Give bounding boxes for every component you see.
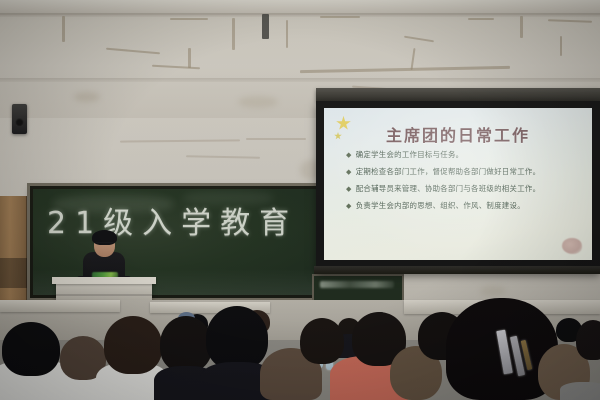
bullet-marker-icon: ◆ — [346, 201, 352, 211]
bullet-marker-icon: ◆ — [346, 184, 352, 194]
secondary-chalk-marks — [320, 281, 394, 288]
wall-stain — [74, 92, 100, 102]
wall-seam-mid — [0, 78, 600, 82]
presentation-slide: 主席团的日常工作 ◆ 确定学生会的工作目标与任务。 ◆ 定期检查各部门工作，督促… — [324, 108, 592, 260]
audience-head — [576, 320, 600, 360]
chalk-smudge — [183, 191, 273, 205]
speaker-grill-icon — [15, 118, 24, 127]
audience-head — [104, 316, 162, 374]
door-shadow — [0, 258, 28, 288]
wall-crack — [232, 18, 235, 50]
bullet-text: 定期检查各部门工作，督促帮助各部门做好日常工作。 — [356, 167, 541, 177]
bullet-text: 确定学生会的工作目标与任务。 — [356, 150, 464, 160]
slide-title: 主席团的日常工作 — [324, 122, 592, 146]
wall-crack — [286, 20, 288, 48]
bullet-marker-icon: ◆ — [346, 167, 352, 177]
list-item: ◆ 确定学生会的工作目标与任务。 — [346, 150, 582, 160]
wall-crack — [170, 18, 208, 20]
blackboard-chalk-text: 21级入学教育 — [47, 209, 327, 239]
wall-crack — [320, 16, 360, 18]
wall-stain — [238, 96, 278, 108]
bullet-text: 负责学生会内部的思想、组织、作风、制度建设。 — [356, 201, 525, 211]
audience-shoulders — [560, 382, 600, 400]
wall-crack — [188, 48, 191, 68]
projector-screen-bottom-bar — [314, 266, 600, 274]
list-item: ◆ 定期检查各部门工作，督促帮助各部门做好日常工作。 — [346, 167, 582, 177]
glasses-icon — [96, 242, 113, 247]
desk-row — [0, 300, 120, 312]
classroom-door[interactable] — [0, 196, 28, 300]
wall-crack — [246, 138, 306, 140]
list-item: ◆ 配合辅导员来管理、协助各部门与各班级的相关工作。 — [346, 184, 582, 194]
bullet-text: 配合辅导员来管理、协助各部门与各班级的相关工作。 — [356, 184, 541, 194]
projector-screen-case — [316, 88, 600, 101]
audience-head — [300, 318, 344, 364]
cartoon-figure-icon — [562, 238, 582, 254]
wall-seam-upper — [0, 14, 600, 17]
audience-head — [2, 322, 60, 376]
audience-head — [160, 316, 212, 372]
list-item: ◆ 负责学生会内部的思想、组织、作风、制度建设。 — [346, 201, 582, 211]
slide-bullet-list: ◆ 确定学生会的工作目标与任务。 ◆ 定期检查各部门工作，督促帮助各部门做好日常… — [346, 150, 582, 219]
wall-stain — [480, 286, 506, 296]
podium-top — [52, 277, 156, 284]
wall-pipe-mark — [262, 14, 269, 39]
wall-crack — [62, 16, 65, 42]
bullet-marker-icon: ◆ — [346, 150, 352, 160]
ceiling-strip — [0, 0, 600, 14]
wall-crack — [468, 18, 494, 20]
wall-crack — [560, 36, 562, 56]
wall-speaker-icon — [12, 104, 27, 134]
classroom-photo: 21级入学教育 主席团的日常工作 ◆ 确定学生会的工作目标与任务。 ◆ 定期检查… — [0, 0, 600, 400]
podium-edge — [56, 294, 152, 296]
wall-crack — [520, 16, 523, 38]
audience-head — [206, 306, 268, 370]
